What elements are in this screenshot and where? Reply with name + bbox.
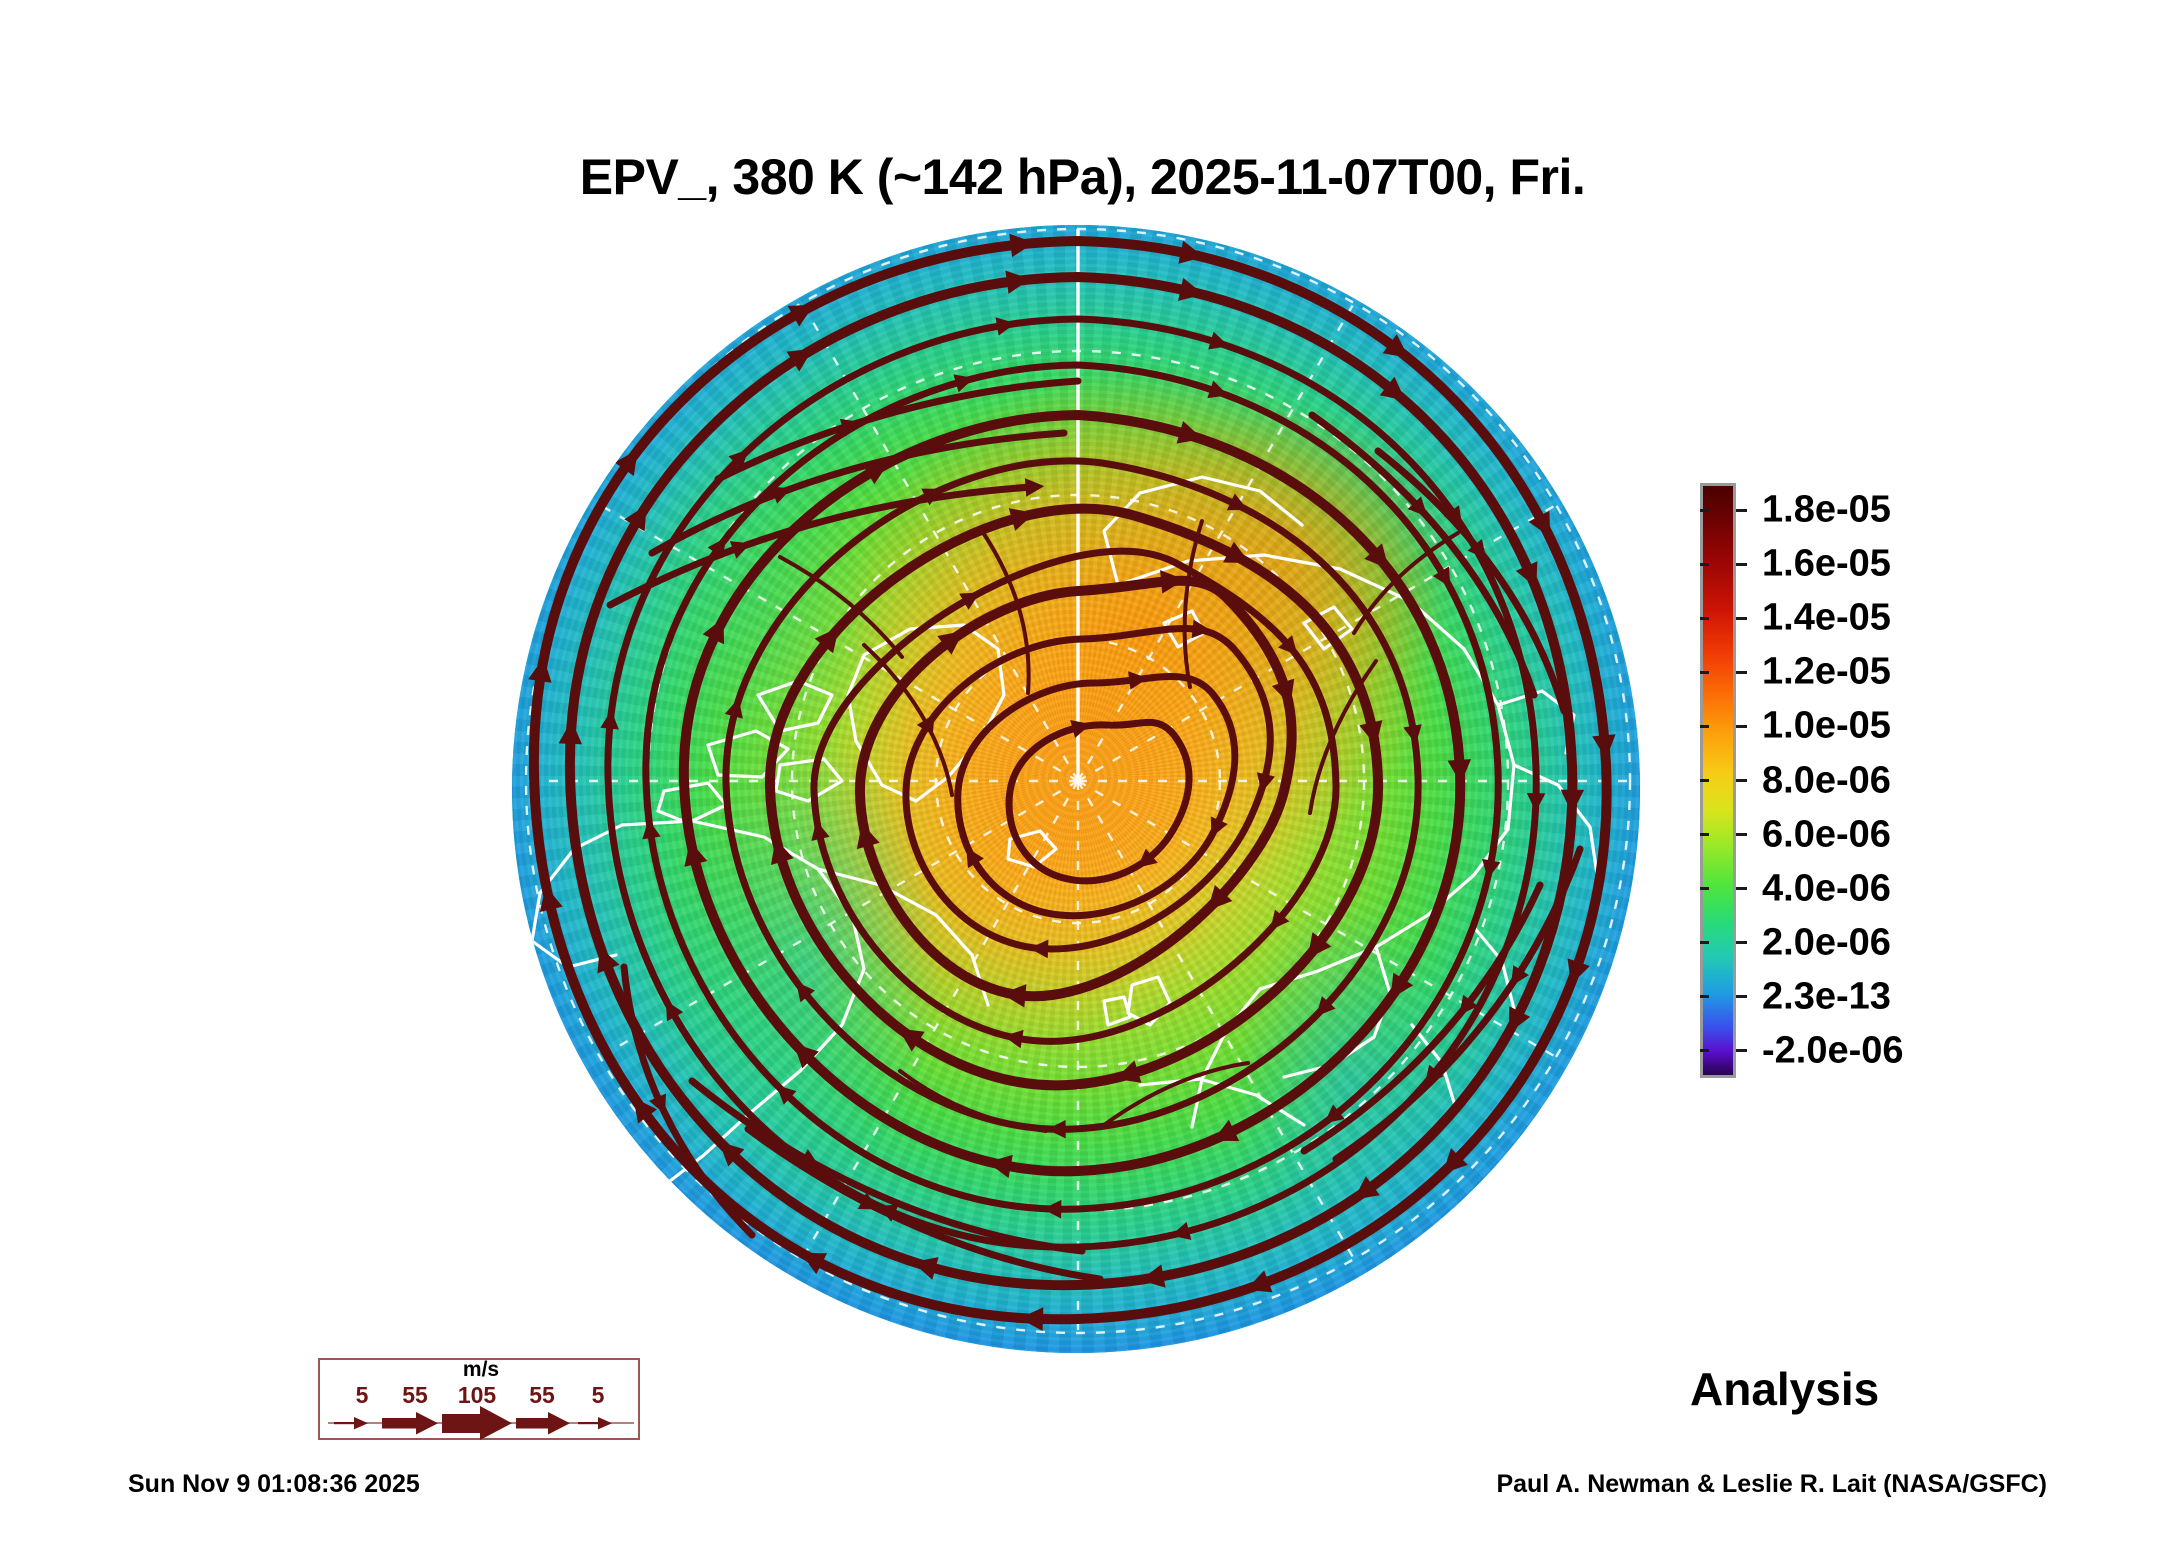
author-credits: Paul A. Newman & Leslie R. Lait (NASA/GS… bbox=[1496, 1470, 2047, 1499]
globe-disc bbox=[512, 225, 1640, 1353]
colorbar-tick bbox=[1736, 617, 1747, 620]
colorbar-label: 1.8e-05 bbox=[1762, 489, 1891, 532]
colorbar-tick-inner bbox=[1700, 671, 1709, 674]
colorbar-label: 2.0e-06 bbox=[1762, 921, 1891, 964]
colorbar-tick-inner bbox=[1700, 563, 1709, 566]
colorbar-tick-inner bbox=[1700, 995, 1709, 998]
colorbar-tick-inner bbox=[1700, 941, 1709, 944]
colorbar-tick bbox=[1736, 563, 1747, 566]
polar-map bbox=[512, 225, 1640, 1353]
colorbar-tick-inner bbox=[1700, 779, 1709, 782]
colorbar-label: 2.3e-13 bbox=[1762, 975, 1891, 1018]
colorbar-label: -2.0e-06 bbox=[1762, 1029, 1904, 1072]
colorbar-label: 4.0e-06 bbox=[1762, 867, 1891, 910]
colorbar-tick bbox=[1736, 941, 1747, 944]
colorbar-tick-inner bbox=[1700, 1049, 1709, 1052]
analysis-label: Analysis bbox=[1690, 1362, 1879, 1416]
colorbar-label: 1.6e-05 bbox=[1762, 543, 1891, 586]
wind-legend-value: 105 bbox=[458, 1382, 496, 1409]
colorbar-label: 8.0e-06 bbox=[1762, 759, 1891, 802]
colorbar-tick bbox=[1736, 833, 1747, 836]
colorbar-tick bbox=[1736, 779, 1747, 782]
wind-streamlines bbox=[512, 225, 1640, 1353]
colorbar-tick bbox=[1736, 671, 1747, 674]
colorbar-tick bbox=[1736, 887, 1747, 890]
wind-legend-unit: m/s bbox=[320, 1358, 642, 1382]
wind-legend-value: 55 bbox=[402, 1382, 428, 1409]
colorbar-label: 6.0e-06 bbox=[1762, 813, 1891, 856]
wind-legend-value: 5 bbox=[592, 1382, 605, 1409]
colorbar-group: 1.8e-051.6e-051.4e-051.2e-051.0e-058.0e-… bbox=[1700, 483, 2120, 1083]
colorbar-tick-inner bbox=[1700, 725, 1709, 728]
page-title: EPV_, 380 K (~142 hPa), 2025-11-07T00, F… bbox=[0, 148, 2165, 206]
colorbar-tick-inner bbox=[1700, 617, 1709, 620]
colorbar-tick bbox=[1736, 509, 1747, 512]
colorbar-label: 1.4e-05 bbox=[1762, 597, 1891, 640]
colorbar-tick-inner bbox=[1700, 509, 1709, 512]
generation-timestamp: Sun Nov 9 01:08:36 2025 bbox=[128, 1470, 420, 1499]
colorbar-label: 1.2e-05 bbox=[1762, 651, 1891, 694]
colorbar-label: 1.0e-05 bbox=[1762, 705, 1891, 748]
wind-legend-value: 5 bbox=[356, 1382, 369, 1409]
wind-speed-legend: m/s 555105555 bbox=[318, 1358, 640, 1440]
colorbar-tick bbox=[1736, 995, 1747, 998]
colorbar-tick-inner bbox=[1700, 887, 1709, 890]
wind-legend-arrows bbox=[320, 1406, 642, 1440]
colorbar-tick-inner bbox=[1700, 833, 1709, 836]
colorbar-tick bbox=[1736, 725, 1747, 728]
wind-legend-value: 55 bbox=[529, 1382, 555, 1409]
colorbar-tick bbox=[1736, 1049, 1747, 1052]
